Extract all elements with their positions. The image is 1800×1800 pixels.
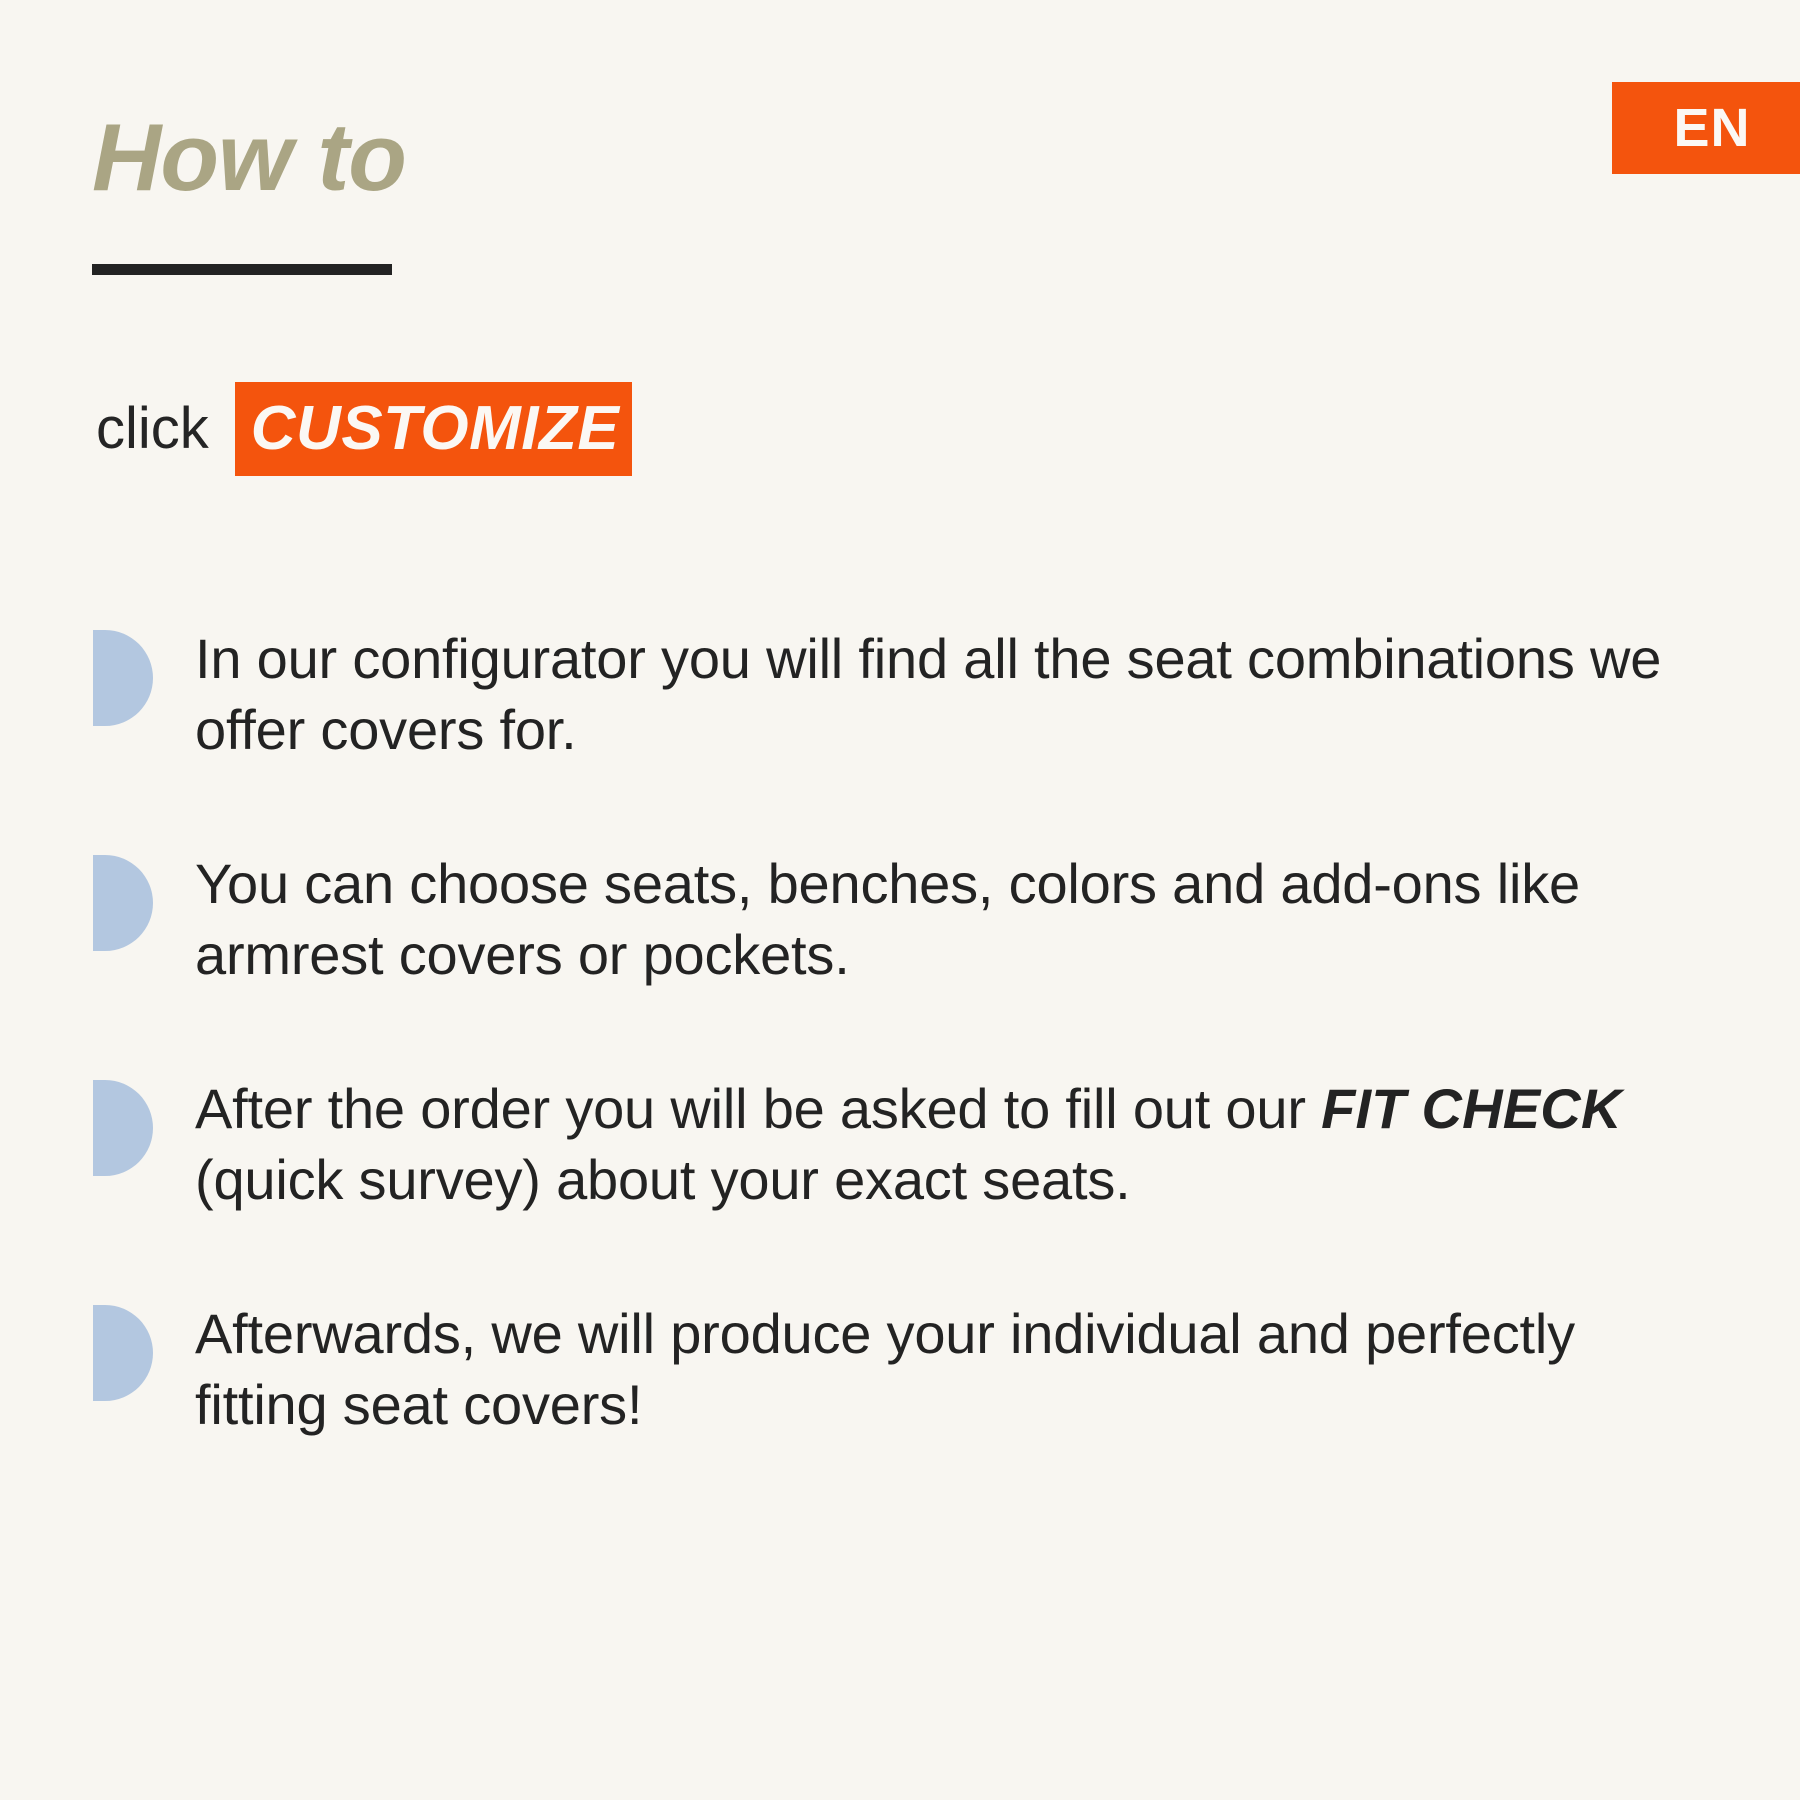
fit-check-emphasis: FIT CHECK (1321, 1077, 1621, 1140)
step-text: In our configurator you will find all th… (195, 624, 1713, 765)
step-text-lead: After the order you will be asked to fil… (195, 1077, 1321, 1140)
language-badge-label: EN (1673, 101, 1750, 155)
cta-prefix-label: click (96, 400, 209, 458)
list-item: In our configurator you will find all th… (93, 624, 1713, 765)
list-item: Afterwards, we will produce your individ… (93, 1299, 1713, 1440)
step-text: You can choose seats, benches, colors an… (195, 849, 1713, 990)
d-shape-bullet-icon (93, 630, 153, 726)
language-badge[interactable]: EN (1612, 82, 1800, 174)
d-shape-bullet-icon (93, 855, 153, 951)
call-to-action-row: click CUSTOMIZE (96, 382, 632, 476)
list-item: After the order you will be asked to fil… (93, 1074, 1713, 1215)
d-shape-bullet-icon (93, 1080, 153, 1176)
step-text: After the order you will be asked to fil… (195, 1074, 1713, 1215)
title-underline-rule (92, 264, 392, 275)
step-text-tail: (quick survey) about your exact seats. (195, 1148, 1131, 1211)
page-title: How to (92, 108, 406, 209)
step-text: Afterwards, we will produce your individ… (195, 1299, 1713, 1440)
customize-button[interactable]: CUSTOMIZE (235, 382, 632, 476)
d-shape-bullet-icon (93, 1305, 153, 1401)
steps-list: In our configurator you will find all th… (93, 624, 1713, 1440)
list-item: You can choose seats, benches, colors an… (93, 849, 1713, 990)
how-to-slide: EN How to click CUSTOMIZE In our configu… (0, 0, 1800, 1800)
